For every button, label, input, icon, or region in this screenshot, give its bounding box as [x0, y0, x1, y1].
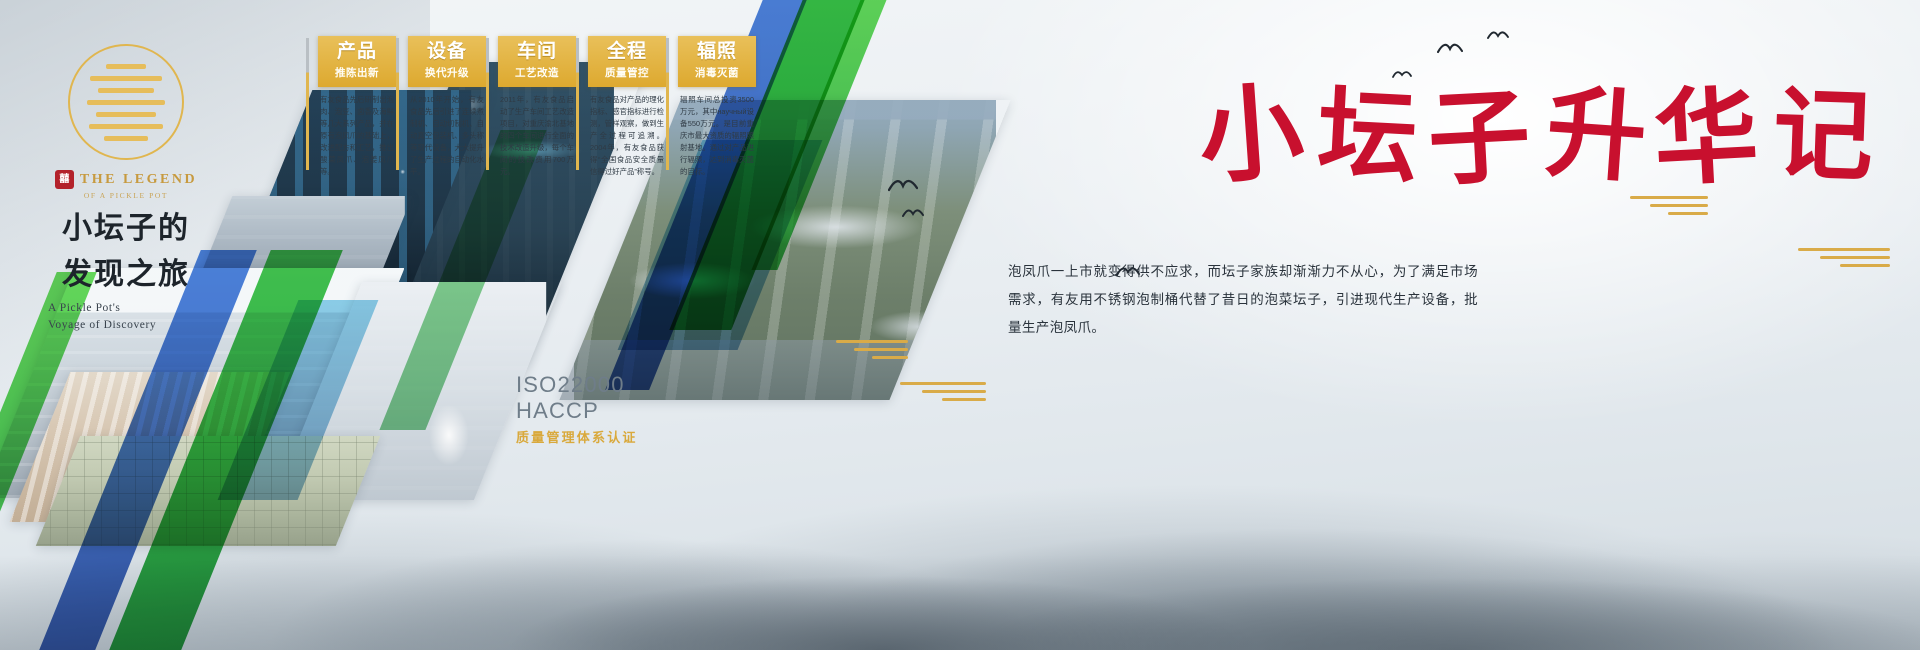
cloud-ornament-low	[900, 382, 986, 406]
card-rule	[306, 38, 309, 170]
bird-icon	[1437, 42, 1463, 56]
iso-standard-line: ISO22000	[516, 372, 638, 398]
headline-calligraphy: 小 坛 子 升 华 记	[1184, 82, 1884, 202]
card-body: 有友食品对产品的理化指标、感官指标进行检测，管样观察，做到生产全过程可追溯。20…	[588, 94, 666, 178]
headline-char: 华	[1651, 79, 1761, 199]
red-stamp-icon: 囍	[55, 170, 74, 189]
brand-title-en-line1: A Pickle Pot's	[26, 300, 226, 317]
card-title: 全程	[593, 42, 661, 62]
bird-icon	[902, 208, 924, 220]
card-header: 产品 推陈出新	[318, 36, 396, 87]
card-subtitle: 质量管控	[593, 65, 661, 80]
card-header: 全程 质量管控	[588, 36, 666, 87]
headline-char: 记	[1771, 79, 1875, 193]
card-subtitle: 推陈出新	[323, 65, 391, 80]
info-card: 辐照 消毒灭菌 辐照车间总投资3500万元，其中научный设备550万元。是…	[678, 36, 756, 178]
card-title: 辐照	[683, 42, 751, 62]
intro-paragraph: 泡凤爪一上市就变得供不应求，而坛子家族却渐渐力不从心，为了满足市场需求，有友用不…	[1008, 258, 1478, 342]
card-rule	[666, 38, 669, 170]
card-body: 2011年，有友食品启动了生产车间工艺改造项目，对重庆渝北基地的四个车间进行全面…	[498, 94, 576, 178]
legend-subtitle: OF A PICKLE POT	[26, 191, 226, 200]
headline-char: 子	[1425, 81, 1533, 199]
headline-char: 升	[1542, 77, 1649, 195]
card-body: 有友食品先后研制出泡肉、泡豆、卤香及海鲜等几大系列产品，并在原有泡凤爪的基础上，…	[318, 94, 396, 178]
poster-canvas: 囍 THE LEGEND OF A PICKLE POT 小坛子的 发现之旅 A…	[0, 0, 1920, 650]
info-card: 设备 换代升级 从2010年开始，有友食品先后引进了连续煮制机、自动切制机、自动…	[408, 36, 486, 178]
card-subtitle: 工艺改造	[503, 65, 571, 80]
brand-title-cn-line2: 发现之旅	[26, 258, 226, 292]
brand-title-en-line2: Voyage of Discovery	[26, 317, 226, 334]
card-body: 辐照车间总投资3500万元，其中научный设备550万元。是目前重庆市最大资…	[678, 94, 756, 178]
card-header: 设备 换代升级	[408, 36, 486, 87]
info-card: 车间 工艺改造 2011年，有友食品启动了生产车间工艺改造项目，对重庆渝北基地的…	[498, 36, 576, 178]
iso-caption: 质量管理体系认证	[516, 427, 638, 446]
card-title: 设备	[413, 42, 481, 62]
card-subtitle: 消毒灭菌	[683, 65, 751, 80]
brand-lockup: 囍 THE LEGEND OF A PICKLE POT 小坛子的 发现之旅 A…	[26, 44, 226, 335]
bird-icon	[1392, 70, 1412, 81]
info-card: 全程 质量管控 有友食品对产品的理化指标、感官指标进行检测，管样观察，做到生产全…	[588, 36, 666, 178]
card-subtitle: 换代升级	[413, 65, 481, 80]
card-header: 车间 工艺改造	[498, 36, 576, 87]
bird-icon	[888, 178, 918, 194]
haccp-line: HACCP	[516, 398, 638, 424]
brand-title-cn-line1: 小坛子的	[26, 212, 226, 246]
card-title: 车间	[503, 42, 571, 62]
cloud-ornament-mid	[836, 340, 908, 364]
cloud-ornament-right	[1798, 248, 1890, 272]
card-header: 辐照 消毒灭菌	[678, 36, 756, 87]
legend-row: 囍 THE LEGEND	[26, 170, 226, 189]
legend-wordmark: THE LEGEND	[80, 172, 197, 188]
jar-seal-icon	[68, 44, 184, 160]
headline-char: 坛	[1315, 79, 1421, 195]
card-body: 从2010年开始，有友食品先后引进了连续煮制机、自动切制机、自动真空包装机、多头…	[408, 94, 486, 178]
card-rule	[486, 38, 489, 170]
iso-certification-block: ISO22000 HACCP 质量管理体系认证	[516, 372, 638, 446]
headline-char: 小	[1196, 75, 1308, 197]
info-card-strip: 产品 推陈出新 有友食品先后研制出泡肉、泡豆、卤香及海鲜等几大系列产品，并在原有…	[318, 36, 756, 178]
card-rule	[396, 38, 399, 170]
card-rule	[576, 38, 579, 170]
bird-icon	[1487, 30, 1509, 42]
info-card: 产品 推陈出新 有友食品先后研制出泡肉、泡豆、卤香及海鲜等几大系列产品，并在原有…	[318, 36, 396, 178]
card-title: 产品	[323, 42, 391, 62]
